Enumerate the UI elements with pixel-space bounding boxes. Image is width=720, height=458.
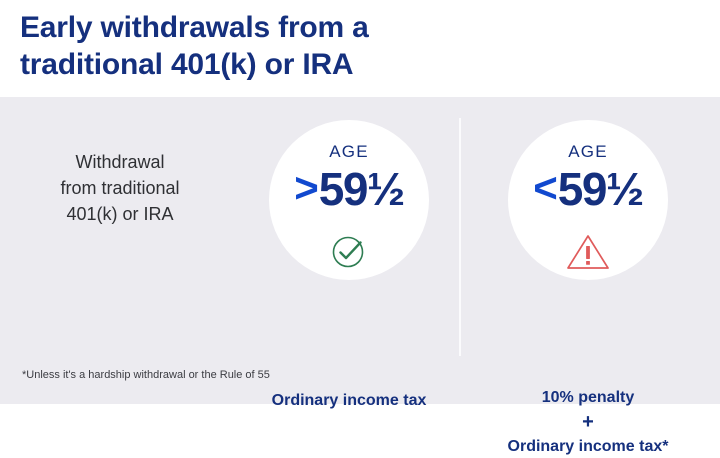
age-over-column: AGE > 59½ Ordinary income tax: [233, 97, 465, 280]
age-over-outcome: Ordinary income tax: [233, 389, 465, 412]
content-panel: Withdrawal from traditional 401(k) or IR…: [0, 97, 720, 404]
page-title: Early withdrawals from a traditional 401…: [20, 9, 700, 83]
age-under-circle: AGE < 59½: [508, 120, 668, 280]
age-over-value: > 59½: [269, 162, 429, 216]
infographic-root: Early withdrawals from a traditional 401…: [0, 0, 720, 404]
age-over-circle: AGE > 59½: [269, 120, 429, 280]
check-circle-icon: [269, 228, 429, 274]
footnote: *Unless it's a hardship withdrawal or th…: [22, 368, 270, 383]
age-under-outcome-penalty: 10% penalty: [472, 386, 704, 409]
age-over-outcome-line: Ordinary income tax: [233, 389, 465, 412]
withdrawal-source-label: Withdrawal from traditional 401(k) or IR…: [14, 149, 226, 227]
age-over-label: AGE: [269, 142, 429, 162]
age-under-label: AGE: [508, 142, 668, 162]
age-under-outcome-tax: Ordinary income tax*: [472, 435, 704, 458]
less-than-symbol: <: [533, 161, 557, 215]
warning-triangle-icon: [508, 228, 668, 274]
age-under-value: < 59½: [508, 162, 668, 216]
age-over-number: 59½: [319, 162, 404, 216]
plus-symbol: +: [472, 410, 704, 434]
greater-than-symbol: >: [294, 161, 318, 215]
header: Early withdrawals from a traditional 401…: [0, 0, 720, 97]
age-under-outcome: 10% penalty + Ordinary income tax*: [472, 386, 704, 458]
age-under-number: 59½: [558, 162, 643, 216]
age-under-column: AGE < 59½ 10% penalty + Ordinary income …: [472, 97, 704, 280]
withdrawal-source-column: Withdrawal from traditional 401(k) or IR…: [14, 149, 226, 227]
